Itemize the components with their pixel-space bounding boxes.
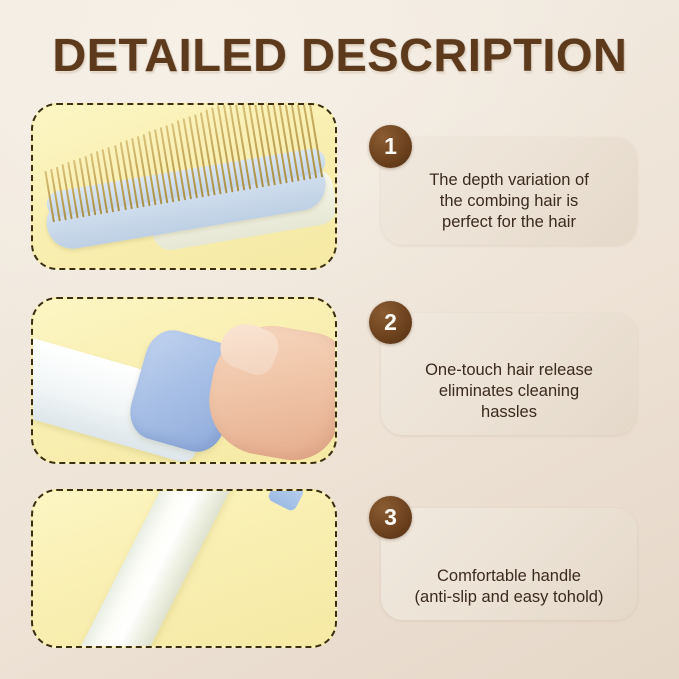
feature-card-1: 1 The depth variation of the combing hai… (381, 137, 637, 245)
page-title: DETAILED DESCRIPTION (52, 28, 627, 82)
feature-card-3: 3 Comfortable handle (anti-slip and easy… (381, 508, 637, 620)
photo-2-scene (33, 299, 335, 462)
comb-pin (108, 147, 121, 212)
comb-handle-blue-tip (267, 491, 306, 512)
feature-number-badge-3: 3 (369, 496, 412, 539)
photo-3-scene (33, 491, 335, 646)
page-title-container: DETAILED DESCRIPTION (0, 28, 679, 82)
feature-photo-1 (31, 103, 337, 270)
feature-text-2: One-touch hair release eliminates cleani… (391, 360, 627, 423)
comb-pin (114, 145, 127, 211)
feature-text-1: The depth variation of the combing hair … (391, 170, 627, 233)
photo-1-scene (33, 105, 335, 268)
infographic-page: DETAILED DESCRIPTION 1 The depth variati… (0, 0, 679, 679)
comb-handle-diagonal (56, 491, 247, 646)
feature-card-2: 2 One-touch hair release eliminates clea… (381, 313, 637, 435)
feature-photo-2 (31, 297, 337, 464)
feature-number-badge-2: 2 (369, 301, 412, 344)
feature-photo-3 (31, 489, 337, 648)
feature-text-3: Comfortable handle (anti-slip and easy t… (391, 566, 627, 608)
feature-number-badge-1: 1 (369, 125, 412, 168)
